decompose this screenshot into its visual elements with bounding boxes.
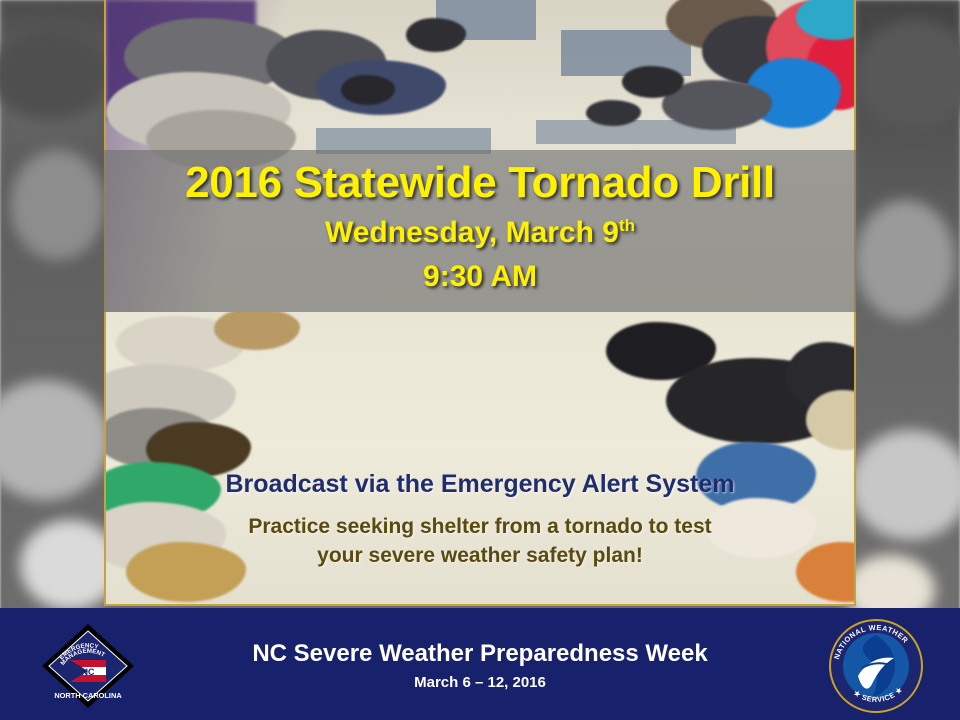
banner-title: NC Severe Weather Preparedness Week: [0, 640, 960, 668]
title-band: 2016 Statewide Tornado Drill Wednesday, …: [104, 150, 856, 312]
poster-time: 9:30 AM: [104, 260, 856, 294]
practice-message-line-2: your severe weather safety plan!: [104, 541, 856, 570]
bottom-banner: EMERGENCY MANAGEMENT NC NORTH CAROLINA N…: [0, 608, 960, 720]
tornado-drill-poster: 2016 Statewide Tornado Drill Wednesday, …: [0, 0, 960, 720]
banner-subtitle: March 6 – 12, 2016: [0, 674, 960, 691]
broadcast-headline: Broadcast via the Emergency Alert System: [104, 470, 856, 499]
shoe: [406, 18, 466, 52]
poster-title: 2016 Statewide Tornado Drill: [104, 158, 856, 208]
background-blob: [855, 200, 955, 320]
poster-date-text: Wednesday, March 9: [325, 216, 619, 249]
shoe: [214, 312, 300, 350]
seal-arc-bottom: NORTH CAROLINA: [54, 691, 122, 700]
practice-message-line-1: Practice seeking shelter from a tornado …: [104, 512, 856, 541]
practice-message: Practice seeking shelter from a tornado …: [104, 512, 856, 570]
background-blob: [10, 150, 105, 260]
poster-date-ordinal: th: [619, 216, 635, 235]
poster-date: Wednesday, March 9th: [104, 216, 856, 250]
background-blob: [850, 430, 960, 540]
